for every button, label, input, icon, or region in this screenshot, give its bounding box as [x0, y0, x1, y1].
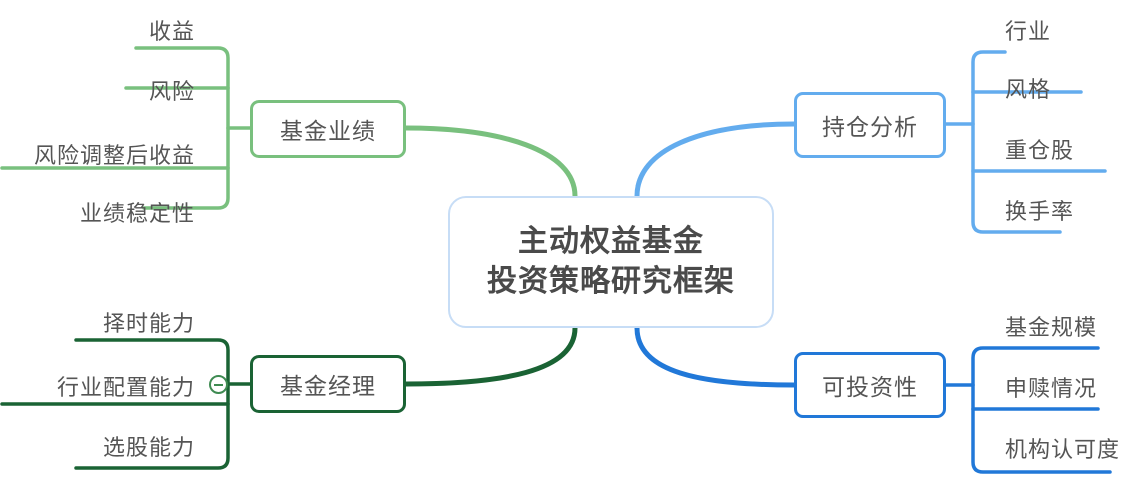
- mindmap-canvas: 主动权益基金 投资策略研究框架 基金业绩 基金经理 持仓分析 可投资性 收益 风…: [0, 0, 1143, 477]
- branch-node-holdings-analysis[interactable]: 持仓分析: [794, 92, 946, 158]
- leaf-risk[interactable]: 风险: [60, 74, 195, 106]
- branch-label-investability: 可投资性: [822, 368, 918, 402]
- minus-icon: [214, 384, 223, 386]
- leaf-sector-allocation-ability[interactable]: 行业配置能力: [35, 370, 195, 402]
- branch-label-fund-manager: 基金经理: [280, 367, 376, 401]
- root-title-line-1: 主动权益基金: [518, 222, 704, 263]
- branch-node-fund-performance[interactable]: 基金业绩: [250, 100, 406, 158]
- leaf-market-timing-ability[interactable]: 择时能力: [55, 306, 195, 338]
- leaf-turnover-rate[interactable]: 换手率: [1005, 194, 1074, 226]
- leaf-industry[interactable]: 行业: [1005, 14, 1051, 46]
- leaf-risk-adjusted-return[interactable]: 风险调整后收益: [10, 138, 195, 170]
- leaf-style[interactable]: 风格: [1005, 72, 1051, 104]
- leaf-top-holdings[interactable]: 重仓股: [1005, 133, 1074, 165]
- root-node[interactable]: 主动权益基金 投资策略研究框架: [448, 196, 774, 328]
- branch-label-holdings-analysis: 持仓分析: [822, 108, 918, 142]
- leaf-subscription-redemption[interactable]: 申赎情况: [1005, 371, 1097, 403]
- branch-label-fund-performance: 基金业绩: [280, 112, 376, 146]
- leaf-fund-size[interactable]: 基金规模: [1005, 310, 1097, 342]
- root-title-line-2: 投资策略研究框架: [487, 262, 735, 303]
- collapse-toggle-fund-manager[interactable]: [209, 375, 228, 394]
- leaf-performance-stability[interactable]: 业绩稳定性: [50, 196, 195, 228]
- branch-node-fund-manager[interactable]: 基金经理: [250, 355, 406, 413]
- leaf-stock-selection-ability[interactable]: 选股能力: [55, 430, 195, 462]
- leaf-institutional-recognition[interactable]: 机构认可度: [1005, 432, 1120, 464]
- branch-node-investability[interactable]: 可投资性: [794, 352, 946, 418]
- leaf-return[interactable]: 收益: [60, 14, 195, 46]
